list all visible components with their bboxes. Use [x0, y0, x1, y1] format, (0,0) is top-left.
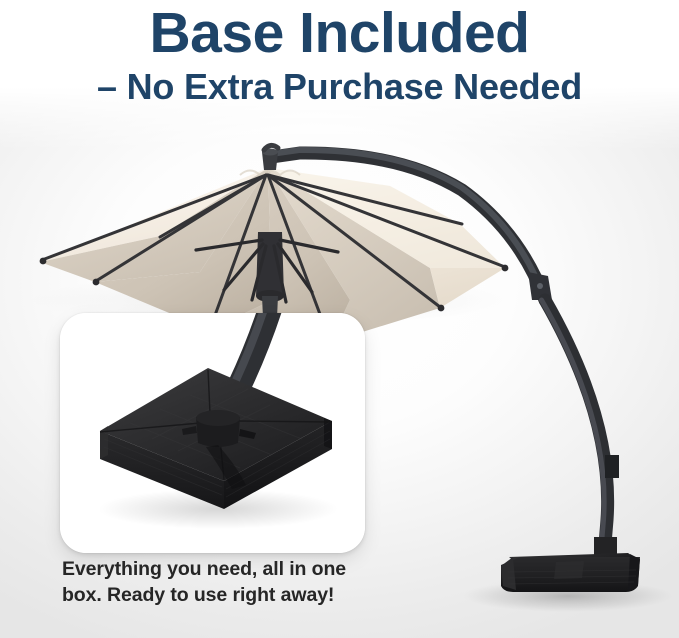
- headline-block: Base Included – No Extra Purchase Needed: [0, 4, 679, 108]
- support-pole-lower: [542, 300, 613, 556]
- caption-line-2: box. Ready to use right away!: [62, 583, 392, 609]
- caption-line-1: Everything you need, all in one: [62, 557, 392, 583]
- weighted-base-plate: [501, 537, 640, 592]
- product-marketing-image: Base Included – No Extra Purchase Needed: [0, 0, 679, 638]
- inset-base-illustration: [60, 313, 365, 553]
- canopy-crown: [262, 145, 278, 170]
- inset-caption: Everything you need, all in one box. Rea…: [62, 557, 392, 608]
- headline-secondary: – No Extra Purchase Needed: [0, 66, 679, 107]
- headline-primary: Base Included: [0, 4, 679, 62]
- base-closeup-inset: [60, 313, 365, 553]
